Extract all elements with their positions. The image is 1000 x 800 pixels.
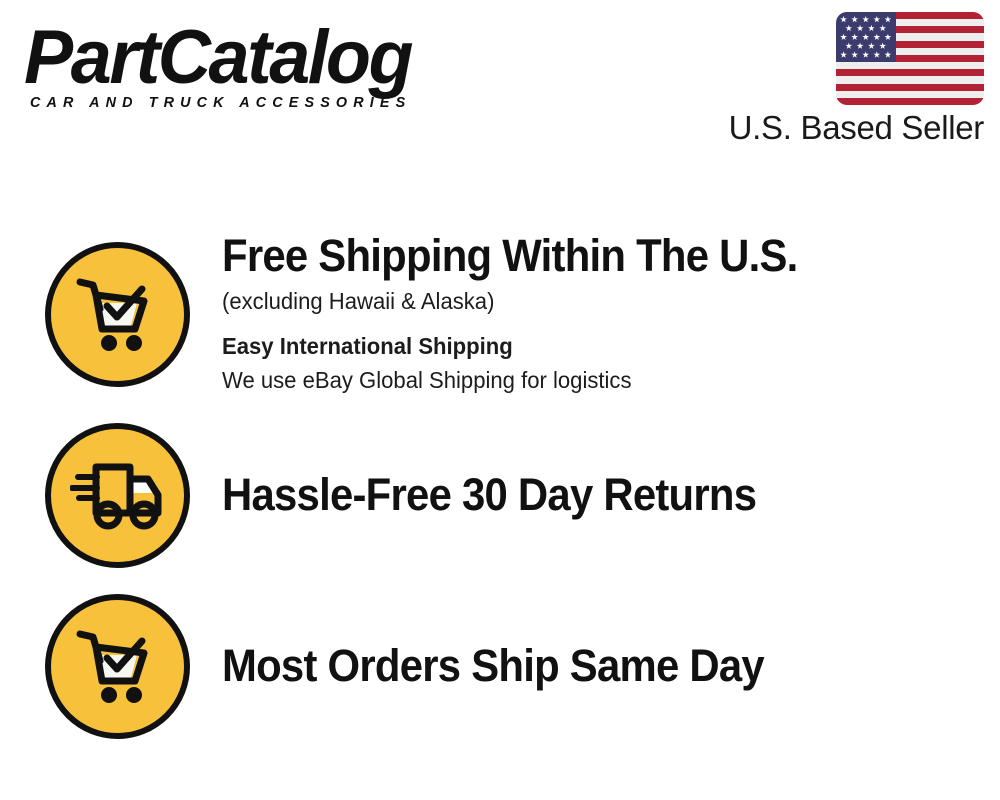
brand-tagline: CAR AND TRUCK ACCESSORIES <box>30 95 489 111</box>
shopping-cart-check-icon <box>45 242 190 387</box>
page-header: PartCatalog CAR AND TRUCK ACCESSORIES <box>0 0 1000 175</box>
seller-label: U.S. Based Seller <box>704 109 984 147</box>
feature-row: Most Orders Ship Same Day <box>0 591 1000 741</box>
feature-subtitle-bold: Easy International Shipping <box>222 330 950 363</box>
feature-subtitle: (excluding Hawaii & Alaska) <box>222 285 950 318</box>
feature-title: Most Orders Ship Same Day <box>222 642 927 690</box>
flag-canton <box>836 12 896 62</box>
seller-badge: U.S. Based Seller <box>704 12 984 147</box>
feature-row: Hassle-Free 30 Day Returns <box>0 420 1000 570</box>
feature-text: Hassle-Free 30 Day Returns <box>222 471 1000 519</box>
brand-logo: PartCatalog CAR AND TRUCK ACCESSORIES <box>24 22 494 111</box>
feature-text: Most Orders Ship Same Day <box>222 642 1000 690</box>
feature-row: Free Shipping Within The U.S. (excluding… <box>0 228 1000 400</box>
shopping-cart-check-icon <box>45 594 190 739</box>
us-flag-icon <box>836 12 984 105</box>
feature-title: Hassle-Free 30 Day Returns <box>222 471 927 519</box>
feature-title: Free Shipping Within The U.S. <box>222 232 927 280</box>
feature-subtitle-detail: We use eBay Global Shipping for logistic… <box>222 364 950 397</box>
feature-text: Free Shipping Within The U.S. (excluding… <box>222 232 1000 397</box>
brand-wordmark: PartCatalog <box>24 22 480 94</box>
delivery-truck-icon <box>45 423 190 568</box>
